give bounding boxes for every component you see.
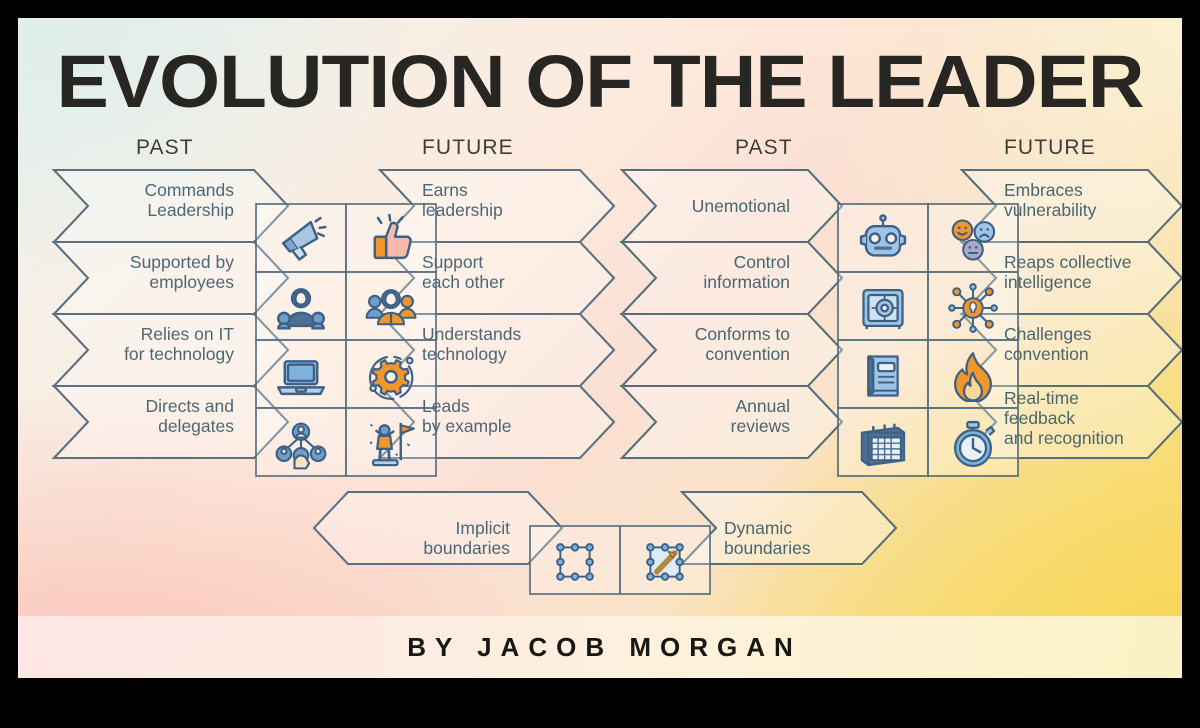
label-bottom-future-line0: Dynamic <box>724 518 792 538</box>
label-r-past-2-line0: Conforms to <box>695 324 790 344</box>
icon-cell-bottom-past[interactable] <box>530 526 620 594</box>
book-icon <box>868 357 897 396</box>
label-past-3-line1: delegates <box>158 416 234 436</box>
label-bottom-future-line1: boundaries <box>724 538 811 558</box>
header-right-past: PAST <box>735 136 793 160</box>
label-past-2-line1: for technology <box>124 344 234 364</box>
label-future-2-line1: technology <box>422 344 507 364</box>
right-panel-icon-grid <box>838 204 1018 476</box>
label-past-3-line0: Directs and <box>145 396 234 416</box>
byline: BY JACOB MORGAN <box>398 632 802 663</box>
label-r-future-1-line0: Reaps collective <box>1004 252 1131 272</box>
bottom-row: Implicit boundaries Dynamic boundaries <box>314 492 896 594</box>
resizable-bounding-box-icon <box>647 544 683 580</box>
label-future-1-line0: Support <box>422 252 483 272</box>
label-future-1-line1: each other <box>422 272 505 292</box>
label-past-0-line1: Leadership <box>147 200 234 220</box>
header-right-future: FUTURE <box>1004 136 1096 160</box>
safe-vault-icon <box>864 290 903 329</box>
left-panel-icon-grid <box>256 204 436 476</box>
idea-network-icon <box>949 284 997 332</box>
label-past-1-line0: Supported by <box>130 252 234 272</box>
footer-band: BY JACOB MORGAN <box>18 616 1182 678</box>
label-past-0-line0: Commands <box>145 180 235 200</box>
label-r-past-1-line1: information <box>703 272 790 292</box>
label-r-past-0-line0: Unemotional <box>692 196 790 216</box>
evolution-diagram: Commands Leadership Supported by employe… <box>18 18 1182 678</box>
label-r-future-0-line1: vulnerability <box>1004 200 1097 220</box>
label-r-future-2-line1: convention <box>1004 344 1089 364</box>
label-past-2-line0: Relies on IT <box>141 324 235 344</box>
label-r-future-0-line0: Embraces <box>1004 180 1083 200</box>
label-r-future-3-line2: and recognition <box>1004 428 1124 448</box>
header-left-past: PAST <box>136 136 194 160</box>
label-r-future-2-line0: Challenges <box>1004 324 1092 344</box>
label-bottom-past-line1: boundaries <box>423 538 510 558</box>
label-r-future-3-line1: feedback <box>1004 408 1075 428</box>
label-r-past-1-line0: Control <box>734 252 790 272</box>
label-future-0-line1: leadership <box>422 200 503 220</box>
label-future-0-line0: Earns <box>422 180 468 200</box>
label-future-3-line1: by example <box>422 416 512 436</box>
label-r-past-2-line1: convention <box>705 344 790 364</box>
label-r-past-3-line0: Annual <box>736 396 791 416</box>
label-future-2-line0: Understands <box>422 324 521 344</box>
header-left-future: FUTURE <box>422 136 514 160</box>
label-bottom-past-line0: Implicit <box>456 518 511 538</box>
infographic-poster: EVOLUTION OF THE LEADER <box>18 18 1182 678</box>
laptop-icon <box>278 361 324 394</box>
label-r-future-1-line1: intelligence <box>1004 272 1092 292</box>
label-r-past-3-line1: reviews <box>731 416 791 436</box>
label-future-3-line0: Leads <box>422 396 470 416</box>
label-r-future-3-line0: Real-time <box>1004 388 1079 408</box>
label-past-1-line1: employees <box>149 272 234 292</box>
